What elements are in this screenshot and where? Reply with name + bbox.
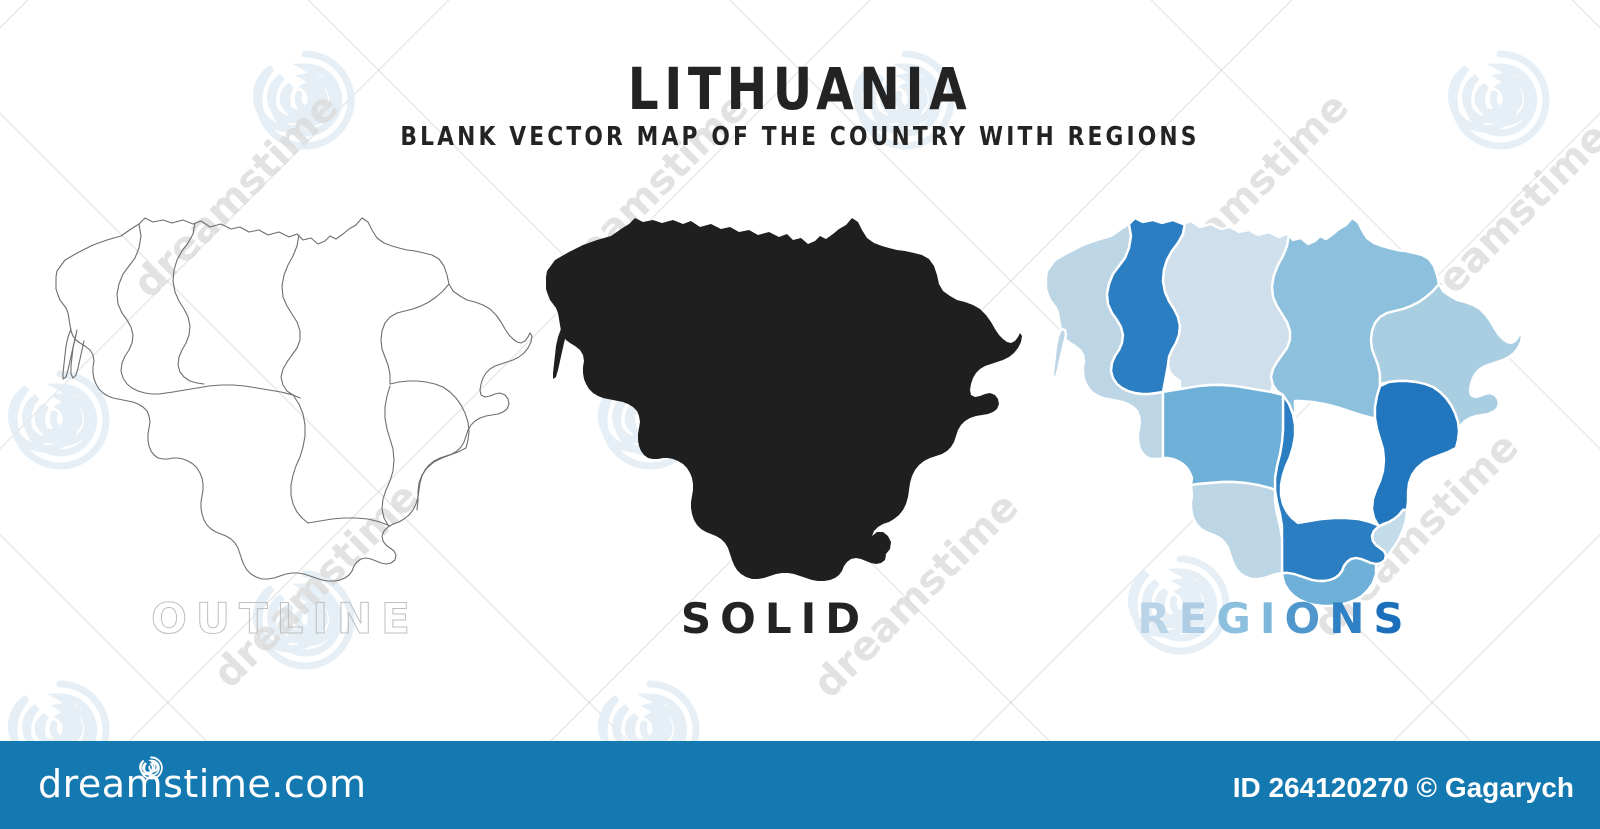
caption-regions-letter: O <box>1285 594 1330 643</box>
county-border-8 <box>381 284 449 384</box>
dreamstime-spiral-icon <box>138 755 164 781</box>
image-canvas: dreamstime dreamstime dreamstime dreamst… <box>0 0 1600 829</box>
curonian-spit-solid <box>553 329 566 379</box>
caption-regions-letter: R <box>1137 594 1178 643</box>
map-panel-outline[interactable] <box>35 196 535 616</box>
caption-regions-letter: E <box>1179 594 1217 643</box>
page-subtitle: BLANK VECTOR MAP OF THE COUNTRY WITH REG… <box>56 124 1544 150</box>
county-border-9 <box>390 381 469 448</box>
dreamstime-brand[interactable]: dreamstime.com <box>38 765 366 803</box>
lithuania-solid-map <box>525 196 1025 616</box>
county-border-1 <box>117 224 173 394</box>
county-border-5 <box>291 395 308 523</box>
caption-solid: SOLID <box>525 598 1025 640</box>
caption-regions: REGIONS <box>1025 598 1525 640</box>
lithuania-regions-map <box>1025 196 1525 616</box>
caption-regions-letter: S <box>1373 594 1412 643</box>
region-kaunas <box>1275 395 1386 581</box>
image-credit: ID 264120270 © Gagarych <box>1233 774 1574 802</box>
caption-regions-letter: G <box>1216 594 1259 643</box>
region-siauliai <box>1163 221 1290 392</box>
caption-regions-letter: I <box>1260 594 1285 643</box>
map-panel-solid[interactable] <box>525 196 1025 616</box>
country-border-outline <box>56 218 532 581</box>
map-panel-regions[interactable] <box>1025 196 1525 616</box>
region-vilnius <box>1372 381 1459 526</box>
county-border-4 <box>173 385 293 395</box>
page-title: LITHUANIA <box>56 60 1544 118</box>
lithuania-outline-map <box>35 196 535 616</box>
caption-regions-letter: N <box>1329 594 1373 643</box>
country-shape-solid <box>546 218 1022 581</box>
vilnius-notch-solid <box>872 532 891 555</box>
county-border-7 <box>382 386 394 525</box>
county-border-2 <box>173 223 204 384</box>
footer-bar: dreamstime.com ID 264120270 © Gagarych <box>0 741 1600 829</box>
county-border-6 <box>308 518 390 526</box>
county-border-3 <box>281 235 300 398</box>
region-marijampole <box>1191 482 1282 579</box>
region-curonian-spit <box>1053 329 1066 379</box>
region-taurage <box>1163 385 1283 490</box>
curonian-lagoon-outline <box>71 330 84 378</box>
caption-outline: OUTLINE <box>35 598 535 640</box>
